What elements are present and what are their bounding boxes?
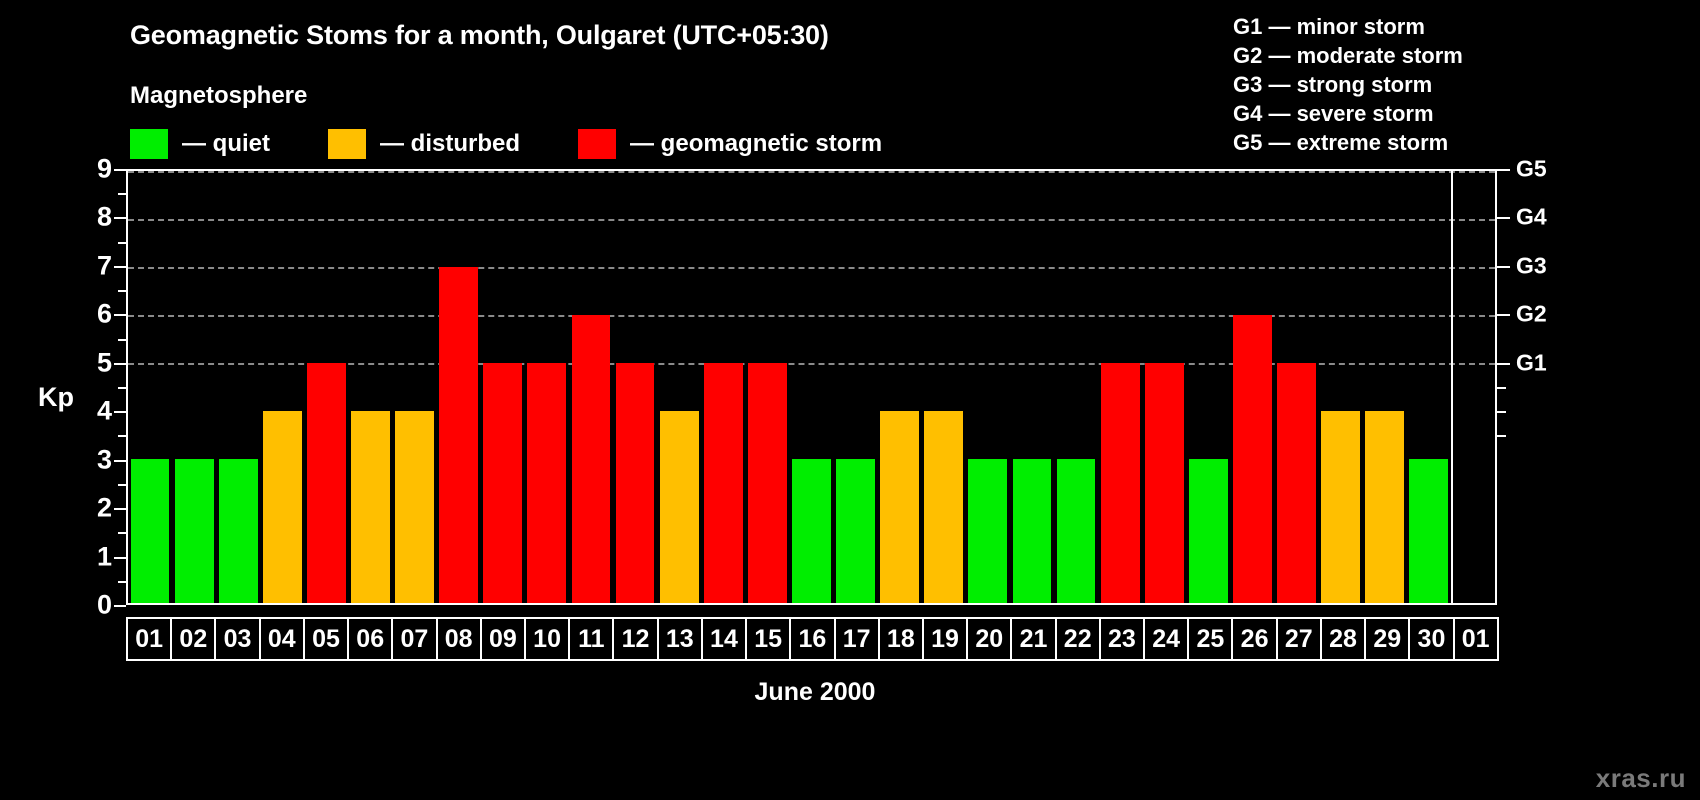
x-axis-day-label[interactable]: 21 [1010,617,1056,661]
bar-slot [1142,171,1186,603]
y-axis-tick-label: 6 [60,299,112,330]
x-axis-title-text: June 2000 [755,678,876,707]
legend-swatch-storm [578,129,616,159]
bar-slot [922,171,966,603]
y-axis-tick [114,605,126,607]
bar-slot [966,171,1010,603]
bar-slot [481,171,525,603]
g-axis-tick [1497,217,1510,219]
y-axis-tick-label: 8 [60,202,112,233]
y-axis-tick-label: 4 [60,396,112,427]
x-axis-day-label[interactable]: 30 [1408,617,1454,661]
bar-slot [348,171,392,603]
bar-slot [1010,171,1054,603]
bar-slot [260,171,304,603]
bar [175,459,214,603]
x-axis-day-label[interactable]: 02 [170,617,216,661]
bar [1365,411,1404,603]
bar-slot [878,171,922,603]
x-axis-day-label[interactable]: 13 [657,617,703,661]
g-scale-key-line-g3: G3 — strong storm [1233,70,1463,99]
bar [880,411,919,603]
x-axis-day-label[interactable]: 22 [1055,617,1101,661]
y-axis-minor-tick [118,242,126,244]
bar-slot [216,171,260,603]
g-axis-tick [1497,169,1510,171]
x-axis-day-label[interactable]: 06 [347,617,393,661]
bar [616,363,655,603]
bar [483,363,522,603]
bar [131,459,170,603]
y-axis-tick-label: 2 [60,493,112,524]
x-axis-day-label[interactable]: 24 [1143,617,1189,661]
g-axis-label-g2: G2 [1516,301,1547,328]
y-axis-tick [114,557,126,559]
bar-slot [172,171,216,603]
bar-slot [1230,171,1274,603]
y-axis-tick-label: 7 [60,250,112,281]
bar-slot [393,171,437,603]
x-axis-title: June 2000 [0,678,1700,707]
legend-label-storm: — geomagnetic storm [630,130,882,158]
bar [748,363,787,603]
g-scale-key-line-g5: G5 — extreme storm [1233,128,1463,157]
g-scale-key-line-g2: G2 — moderate storm [1233,41,1463,70]
g-scale-key: G1 — minor storm G2 — moderate storm G3 … [1233,12,1463,157]
g-axis-minor-tick [1497,387,1506,389]
x-axis-day-label[interactable]: 01 [1453,617,1499,661]
bar [1013,459,1052,603]
g-axis-tick [1497,314,1510,316]
x-axis-day-label[interactable]: 12 [612,617,658,661]
y-axis-minor-tick [118,387,126,389]
x-axis-day-label[interactable]: 09 [480,617,526,661]
y-axis-tick [114,169,126,171]
x-axis-day-label[interactable]: 20 [966,617,1012,661]
x-axis-day-label[interactable]: 15 [745,617,791,661]
x-axis-day-label[interactable]: 18 [878,617,924,661]
bar [527,363,566,603]
y-axis-minor-tick [118,435,126,437]
bar [704,363,743,603]
y-axis-tick-label: 3 [60,444,112,475]
y-axis-minor-tick [118,290,126,292]
bar [439,267,478,603]
legend-label-quiet: — quiet [182,130,270,158]
x-axis-day-label[interactable]: 16 [789,617,835,661]
bar-slot [834,171,878,603]
x-axis-day-label[interactable]: 26 [1231,617,1277,661]
x-axis-day-label[interactable]: 27 [1276,617,1322,661]
y-axis-minor-tick [118,193,126,195]
bar-slot [569,171,613,603]
plot-area [126,169,1497,605]
y-axis-tick [114,217,126,219]
y-axis-minor-tick [118,581,126,583]
g-axis-tick [1497,363,1510,365]
bar [351,411,390,603]
g-axis-label-g5: G5 [1516,156,1547,183]
bar-slot [789,171,833,603]
x-axis-day-labels: 0102030405060708091011121314151617181920… [126,617,1497,661]
g-axis-label-g3: G3 [1516,252,1547,279]
x-axis-day-label[interactable]: 29 [1364,617,1410,661]
y-axis-minor-tick [118,484,126,486]
g-axis-tick [1497,266,1510,268]
bar-slot [613,171,657,603]
bar-series [128,171,1495,603]
x-axis-day-label[interactable]: 23 [1099,617,1145,661]
y-axis-tick [114,314,126,316]
bar [836,459,875,603]
x-axis-day-label[interactable]: 05 [303,617,349,661]
g-scale-key-line-g4: G4 — severe storm [1233,99,1463,128]
x-axis-day-label[interactable]: 03 [214,617,260,661]
y-axis-tick [114,266,126,268]
bar [1233,315,1272,603]
g-axis-minor-tick [1497,411,1506,413]
x-axis-day-label[interactable]: 07 [391,617,437,661]
bar-slot [437,171,481,603]
y-axis-tick-label: 9 [60,154,112,185]
bar [1101,363,1140,603]
bar [968,459,1007,603]
bar [660,411,699,603]
x-axis-day-label[interactable]: 28 [1320,617,1366,661]
g-axis-minor-tick [1497,435,1506,437]
legend-item-storm: — geomagnetic storm [578,129,882,159]
bar-slot [657,171,701,603]
bar [1409,459,1448,603]
legend-swatch-disturbed [328,129,366,159]
bar [395,411,434,603]
bar [1277,363,1316,603]
x-axis-day-label[interactable]: 08 [436,617,482,661]
y-axis-minor-tick [118,339,126,341]
bar-slot [1407,171,1451,603]
bar-slot [1274,171,1318,603]
x-axis-day-label[interactable]: 17 [834,617,880,661]
bar-slot [1319,171,1363,603]
g-scale-key-line-g1: G1 — minor storm [1233,12,1463,41]
x-axis-day-label[interactable]: 01 [126,617,172,661]
bar-slot [1451,171,1495,603]
bar [1145,363,1184,603]
bar-slot [128,171,172,603]
bar [1321,411,1360,603]
y-axis-minor-tick [118,532,126,534]
legend-item-quiet: — quiet [130,129,270,159]
x-axis-day-label[interactable]: 04 [259,617,305,661]
legend: — quiet — disturbed — geomagnetic storm [130,129,882,159]
page-title: Geomagnetic Stoms for a month, Oulgaret … [130,20,829,51]
bar [307,363,346,603]
bar [572,315,611,603]
y-axis-tick [114,411,126,413]
y-axis-tick [114,460,126,462]
y-axis-tick [114,508,126,510]
legend-item-disturbed: — disturbed [328,129,520,159]
bar-slot [745,171,789,603]
g-axis-label-g4: G4 [1516,204,1547,231]
bar [1189,459,1228,603]
bar-slot [1363,171,1407,603]
bar [219,459,258,603]
y-axis-labels: 0123456789 [60,169,112,605]
bar-slot [701,171,745,603]
bar [263,411,302,603]
x-axis-day-label[interactable]: 25 [1187,617,1233,661]
y-axis-tick-label: 0 [60,590,112,621]
x-axis-day-label[interactable]: 14 [701,617,747,661]
y-axis-tick-label: 1 [60,541,112,572]
x-axis-day-label[interactable]: 19 [922,617,968,661]
x-axis-day-label[interactable]: 10 [524,617,570,661]
x-axis-day-label[interactable]: 11 [568,617,614,661]
bar [792,459,831,603]
bar-slot [1186,171,1230,603]
legend-swatch-quiet [130,129,168,159]
watermark: xras.ru [1596,763,1686,794]
bar-slot [1098,171,1142,603]
legend-section-label: Magnetosphere [130,82,307,110]
bar [1057,459,1096,603]
g-axis-label-g1: G1 [1516,349,1547,376]
legend-label-disturbed: — disturbed [380,130,520,158]
bar-slot [525,171,569,603]
chart-canvas: Geomagnetic Stoms for a month, Oulgaret … [0,0,1700,800]
bar [924,411,963,603]
y-axis-tick-label: 5 [60,347,112,378]
bar-slot [304,171,348,603]
y-axis-tick [114,363,126,365]
bar-slot [1054,171,1098,603]
